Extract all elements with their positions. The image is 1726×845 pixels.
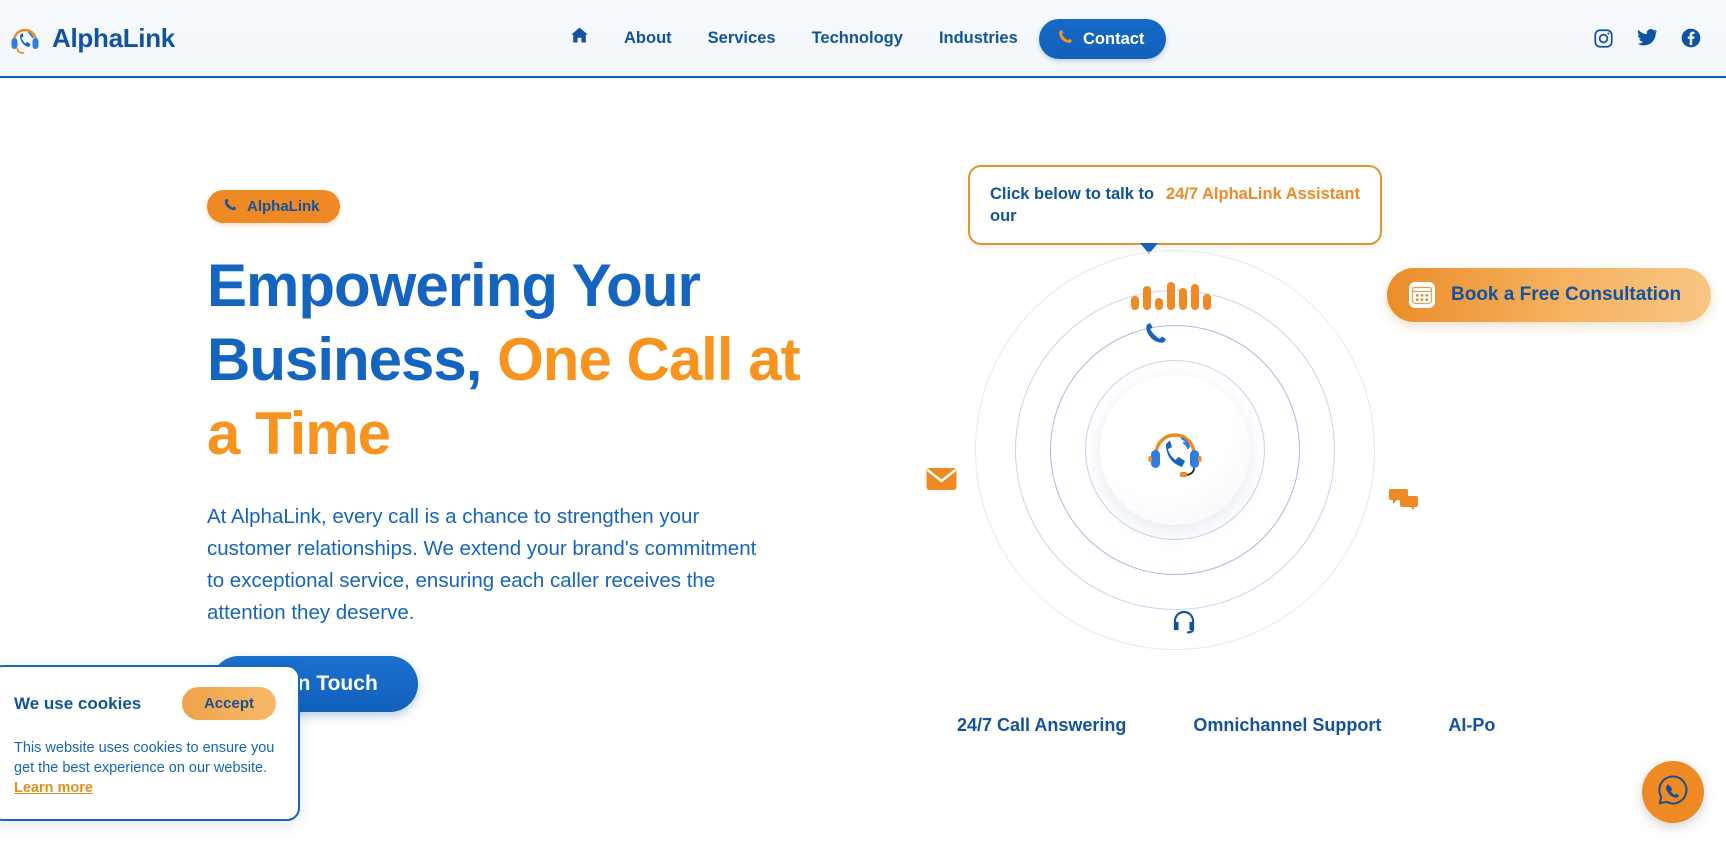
feature-labels: 24/7 Call Answering Omnichannel Support … — [957, 715, 1495, 736]
twitter-icon[interactable] — [1636, 27, 1658, 49]
feature-label-2: AI-Po — [1448, 715, 1495, 736]
hero-badge-label: AlphaLink — [247, 198, 320, 215]
hero-copy: AlphaLink Empowering Your Business, One … — [207, 190, 847, 629]
main-nav: About Services Technology Industries — [553, 25, 1036, 51]
contact-button-label: Contact — [1083, 30, 1144, 49]
orbit-chat-bubbles-icon — [1389, 487, 1419, 516]
brand-name: AlphaLink — [52, 23, 175, 54]
page-title: Empowering Your Business, One Call at a … — [207, 249, 827, 471]
assistant-callout: Click below to talk to our 24/7 AlphaLin… — [968, 165, 1382, 245]
cookie-learn-more-link[interactable]: Learn more — [14, 780, 93, 796]
headset-phone-logo-icon — [8, 21, 42, 55]
social-links — [1593, 27, 1702, 49]
hero-subtitle: At AlphaLink, every call is a chance to … — [207, 501, 767, 629]
callout-primary-text: Click below to talk to our — [990, 183, 1156, 227]
whatsapp-float-button[interactable] — [1642, 761, 1704, 823]
cookie-title: We use cookies — [14, 694, 141, 714]
facebook-icon[interactable] — [1680, 27, 1702, 49]
brand-logo-group[interactable]: AlphaLink — [8, 21, 175, 55]
contact-button[interactable]: Contact — [1039, 19, 1166, 59]
whatsapp-icon — [1656, 773, 1690, 812]
phone-icon — [223, 197, 238, 217]
orbit-envelope-icon — [926, 467, 957, 496]
orbit-headset-icon — [1171, 608, 1197, 639]
hero-badge[interactable]: AlphaLink — [207, 190, 340, 223]
orbit-phone-icon — [1143, 320, 1169, 351]
nav-item-industries[interactable]: Industries — [921, 29, 1036, 48]
nav-item-services[interactable]: Services — [690, 29, 794, 48]
cookie-header-row: We use cookies Accept — [14, 687, 276, 720]
site-header: AlphaLink About Services Technology Indu… — [0, 0, 1726, 78]
cookie-consent-banner: We use cookies Accept This website uses … — [0, 665, 300, 821]
nav-item-home[interactable] — [553, 25, 606, 51]
page-root: AlphaLink About Services Technology Indu… — [0, 0, 1726, 845]
cookie-accept-button[interactable]: Accept — [182, 687, 276, 720]
cookie-body-text: This website uses cookies to ensure you … — [14, 738, 276, 778]
nav-item-about[interactable]: About — [606, 29, 690, 48]
home-icon — [569, 25, 590, 51]
orbit-core — [1100, 375, 1250, 525]
instagram-icon[interactable] — [1593, 28, 1614, 49]
feature-label-0: 24/7 Call Answering — [957, 715, 1126, 736]
book-consultation-button[interactable]: Book a Free Consultation — [1387, 268, 1711, 322]
calendar-icon — [1409, 282, 1435, 308]
book-consultation-label: Book a Free Consultation — [1451, 284, 1681, 306]
nav-item-technology[interactable]: Technology — [794, 29, 921, 48]
feature-label-1: Omnichannel Support — [1193, 715, 1381, 736]
callout-accent-text: 24/7 AlphaLink Assistant — [1166, 183, 1360, 227]
headset-call-center-icon — [1139, 412, 1211, 489]
hero-orbit-graphic — [1015, 290, 1335, 610]
phone-icon — [1057, 28, 1074, 50]
audio-waveform-icon — [1131, 276, 1211, 310]
